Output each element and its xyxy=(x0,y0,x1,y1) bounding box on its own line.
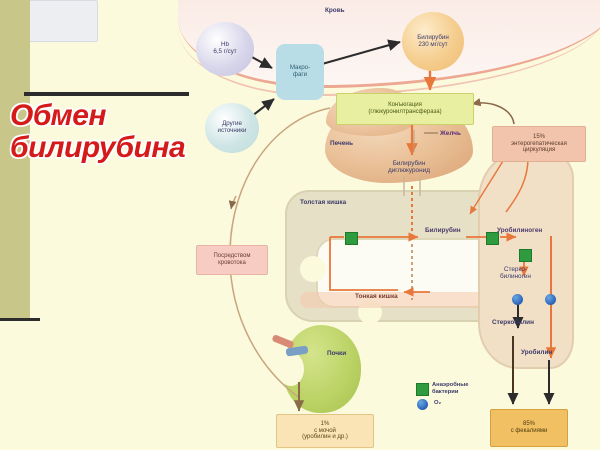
stercobilin-label: Стеркобилин xyxy=(492,319,534,326)
via-bloodstream-box: Посредством кровотока xyxy=(196,245,268,275)
small-intestine-graphic xyxy=(300,292,500,308)
enterohepatic-circulation-box: 15% энтерогепатическая циркуляция xyxy=(492,126,586,162)
bile-label: Желчь xyxy=(440,130,461,137)
feces-output-box: 85% с фекалиями xyxy=(490,409,568,447)
title-line-1: Обмен xyxy=(10,99,106,132)
urobilinogen-label: Уробилиноген xyxy=(497,227,542,234)
conjugation-box: Конъюгация (глюкуронилтрансфераза) xyxy=(336,93,474,125)
anaerobic-bacteria-marker-2 xyxy=(486,232,499,245)
bilirubin-gut-label: Билирубин xyxy=(425,227,461,234)
legend-bacteria-swatch xyxy=(416,383,429,396)
oxygen-marker-1 xyxy=(512,294,523,305)
bilirubin-blood-node: Билирубин 230 мг/сут xyxy=(402,12,464,71)
blood-label: Кровь xyxy=(325,7,345,14)
renal-artery-graphic xyxy=(271,334,294,349)
legend-oxygen-swatch xyxy=(417,399,428,410)
anaerobic-bacteria-marker-1 xyxy=(345,232,358,245)
legend-oxygen-label: O₂ xyxy=(434,400,441,407)
page-title: Обмен билирубина xyxy=(10,100,205,163)
title-divider-bottom xyxy=(0,318,40,321)
other-sources-node: Другие источники xyxy=(205,103,259,153)
oxygen-marker-2 xyxy=(545,294,556,305)
title-divider-top xyxy=(24,92,189,96)
title-line-2: билирубина xyxy=(10,131,185,164)
stercobilinogen-label: Стерко- билиноген xyxy=(500,266,531,281)
macrophage-node: Макро- фаги xyxy=(276,44,324,100)
urobilin-label: Уробилин xyxy=(521,349,552,356)
small-intestine-label: Тонкая кишка xyxy=(355,293,398,300)
kidneys-label: Почки xyxy=(327,350,346,357)
anaerobic-bacteria-marker-3 xyxy=(519,249,532,262)
slide-canvas: Обмен билирубина xyxy=(0,0,600,450)
kidney-hilum xyxy=(278,352,304,386)
hemoglobin-node: Hb 6,5 г/сут xyxy=(196,22,254,76)
liver-label: Печень xyxy=(330,140,353,147)
urine-output-box: 1% с мочой (уробилин и др.) xyxy=(276,414,374,448)
colon-haustra-1 xyxy=(300,256,326,282)
legend-bacteria-label: Анаэробные бактерии xyxy=(432,382,468,395)
bilirubin-diglucuronide-label: Билирубин диглюкуронид xyxy=(388,160,430,175)
large-intestine-label: Толстая кишка xyxy=(300,199,346,206)
